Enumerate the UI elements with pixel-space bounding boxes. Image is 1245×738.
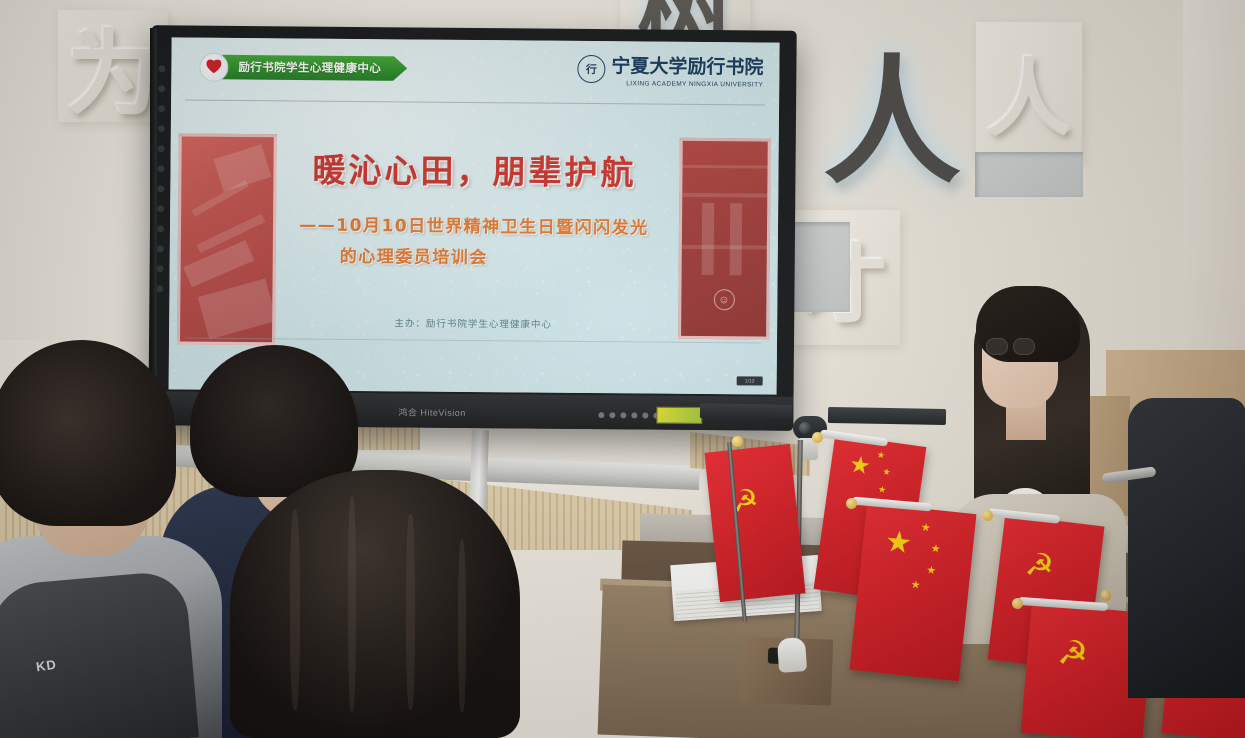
wall-character-ren-small: 人 xyxy=(976,22,1082,162)
student-foreground-right xyxy=(230,470,520,738)
office-chair xyxy=(1128,398,1245,698)
wall-recess-panel xyxy=(790,222,850,312)
wall-character-ren-large-lit: 人 xyxy=(812,20,972,200)
badge-label: 励行书院学生心理健康中心 xyxy=(238,59,381,76)
speaker-bar xyxy=(828,407,946,425)
glasses-icon xyxy=(986,338,1034,353)
energy-rating-label xyxy=(656,407,702,424)
jacket-logo-text: KD xyxy=(35,657,58,675)
slide-title: 暖沁心田，朋辈护航 xyxy=(170,142,778,195)
five-stars-icon: ★ xyxy=(848,453,873,480)
student-foreground-left: KD xyxy=(0,340,210,738)
hammer-and-sickle-icon: ☭ xyxy=(1024,547,1056,582)
meeting-room-photo: 为 树 人 人 才 xyxy=(0,0,1245,738)
university-name-cn: 宁夏大学励行书院 xyxy=(611,51,763,79)
wall-plaque-ren: 人 xyxy=(976,22,1082,162)
presentation-slide[interactable]: 励行书院学生心理健康中心 行 宁夏大学励行书院 LIXING ACADEMY N… xyxy=(169,37,780,394)
smiley-face-icon: ☺ xyxy=(713,289,734,310)
microphone-icon xyxy=(777,637,807,673)
student-long-hair xyxy=(230,470,520,738)
five-stars-icon: ★ xyxy=(884,527,914,560)
speaker-bar xyxy=(700,403,792,420)
wall-recess-panel xyxy=(975,152,1083,197)
center-badge: 励行书院学生心理健康中心 xyxy=(199,53,407,83)
slide-subtitle-line1: ——10月10日世界精神卫生日暨闪闪发光 xyxy=(170,209,778,239)
flag-finial xyxy=(1012,598,1023,609)
wall-pillar xyxy=(1183,0,1245,404)
slide-page-indicator[interactable]: 1/12 xyxy=(737,376,763,385)
slide-header: 励行书院学生心理健康中心 行 宁夏大学励行书院 LIXING ACADEMY N… xyxy=(171,37,780,104)
badge-arrow-banner: 励行书院学生心理健康中心 xyxy=(222,54,407,81)
university-seal-icon: 行 xyxy=(577,55,605,83)
student-hair xyxy=(0,340,176,526)
cpc-party-flag: ☭ xyxy=(704,444,805,602)
flag-finial xyxy=(732,436,743,447)
flag-finial xyxy=(812,432,823,443)
slide-subtitle-line2: 的心理委员培训会 xyxy=(170,240,778,270)
display-screen[interactable]: 励行书院学生心理健康中心 行 宁夏大学励行书院 LIXING ACADEMY N… xyxy=(169,37,780,394)
flag-finial xyxy=(846,498,857,509)
student-vest xyxy=(0,570,199,738)
hammer-and-sickle-icon: ☭ xyxy=(1056,635,1089,672)
chinese-national-flag: ★ ★ ★ ★ ★ xyxy=(850,503,977,682)
university-logo: 行 宁夏大学励行书院 LIXING ACADEMY NINGXIA UNIVER… xyxy=(577,51,763,89)
university-name-en: LIXING ACADEMY NINGXIA UNIVERSITY xyxy=(611,80,763,88)
display-brand-label: 鸿合 HiteVision xyxy=(398,405,465,419)
heart-hands-icon xyxy=(199,52,228,81)
flag-finial xyxy=(982,510,993,521)
